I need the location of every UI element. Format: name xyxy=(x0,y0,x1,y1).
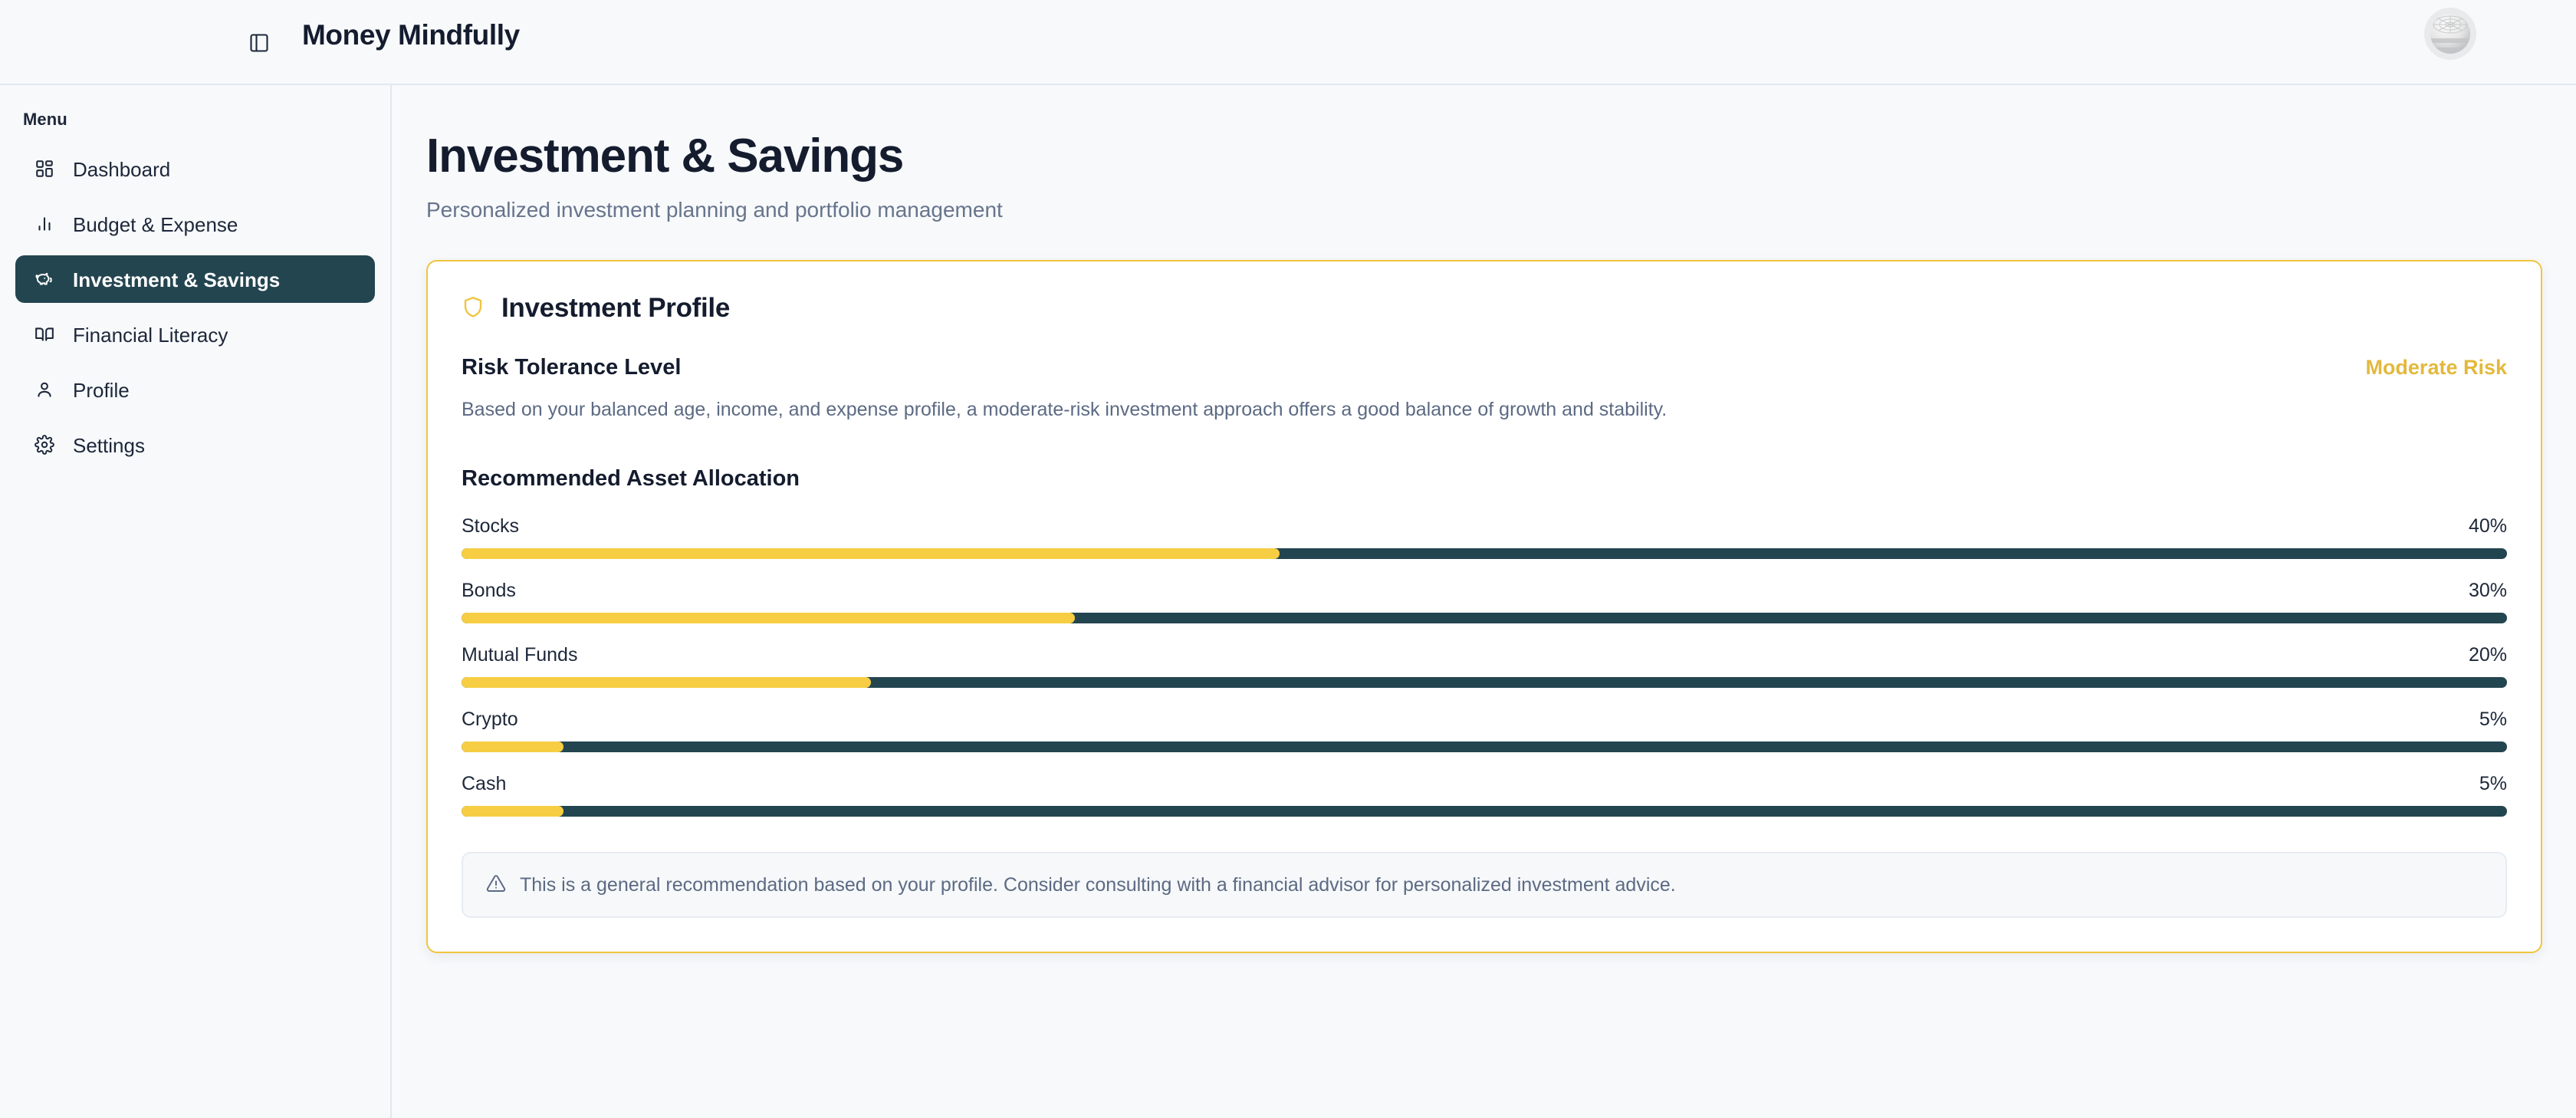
allocation-progress-track xyxy=(462,548,2507,559)
card-header: Investment Profile xyxy=(462,292,2507,324)
alert-triangle-icon xyxy=(486,873,506,897)
allocation-progress-track xyxy=(462,613,2507,623)
allocation-label: Mutual Funds xyxy=(462,643,577,666)
shield-icon xyxy=(462,295,485,322)
allocation-progress-track xyxy=(462,806,2507,817)
gear-icon xyxy=(34,435,54,455)
list-item: Bonds 30% xyxy=(462,579,2507,623)
sidebar: Menu Dashboard Budget & Exp xyxy=(0,85,392,1118)
list-item: Cash 5% xyxy=(462,772,2507,817)
top-bar: Money Mindfully xyxy=(0,0,2576,85)
list-item: Mutual Funds 20% xyxy=(462,643,2507,688)
allocation-progress-track xyxy=(462,741,2507,752)
risk-tolerance-row: Risk Tolerance Level Moderate Risk xyxy=(462,355,2507,380)
piggy-bank-icon xyxy=(34,269,54,289)
sidebar-item-profile[interactable]: Profile xyxy=(15,366,375,413)
disclaimer-box: This is a general recommendation based o… xyxy=(462,852,2507,919)
main-content: Investment & Savings Personalized invest… xyxy=(392,85,2576,1118)
user-icon xyxy=(34,380,54,400)
sidebar-item-label: Budget & Expense xyxy=(73,215,238,235)
allocation-progress-fill xyxy=(462,806,563,817)
allocation-value: 5% xyxy=(2479,772,2507,795)
allocation-label: Stocks xyxy=(462,515,519,538)
brand-title: Money Mindfully xyxy=(302,18,520,52)
risk-tolerance-label: Risk Tolerance Level xyxy=(462,355,681,380)
sidebar-item-financial-literacy[interactable]: Financial Literacy xyxy=(15,311,375,358)
allocation-value: 5% xyxy=(2479,708,2507,731)
allocation-list: Stocks 40% Bonds 30% Mutual Funds xyxy=(462,515,2507,817)
page-title: Investment & Savings xyxy=(418,130,2527,182)
disclaimer-text: This is a general recommendation based o… xyxy=(520,873,1676,898)
sidebar-item-label: Financial Literacy xyxy=(73,325,228,345)
allocation-value: 20% xyxy=(2469,643,2507,666)
page-subtitle: Personalized investment planning and por… xyxy=(418,197,2527,223)
allocation-label: Bonds xyxy=(462,579,516,602)
risk-tolerance-description: Based on your balanced age, income, and … xyxy=(462,397,2507,423)
allocation-progress-fill xyxy=(462,548,1280,559)
sidebar-item-label: Settings xyxy=(73,436,145,455)
allocation-title: Recommended Asset Allocation xyxy=(462,466,2507,492)
grid-icon xyxy=(34,159,54,179)
allocation-label: Crypto xyxy=(462,708,518,731)
book-open-icon xyxy=(34,324,54,344)
sidebar-item-budget-expense[interactable]: Budget & Expense xyxy=(15,200,375,248)
allocation-progress-fill xyxy=(462,741,563,752)
allocation-value: 40% xyxy=(2469,515,2507,538)
status-badge: Moderate Risk xyxy=(2365,356,2507,380)
allocation-progress-fill xyxy=(462,613,1075,623)
sidebar-nav: Dashboard Budget & Expense xyxy=(0,145,390,469)
card-title: Investment Profile xyxy=(501,292,730,324)
sidebar-toggle-icon[interactable] xyxy=(244,28,274,58)
allocation-value: 30% xyxy=(2469,579,2507,602)
sidebar-item-label: Profile xyxy=(73,380,130,400)
sidebar-item-settings[interactable]: Settings xyxy=(15,421,375,469)
sidebar-item-label: Dashboard xyxy=(73,159,170,179)
sidebar-section-label: Menu xyxy=(0,110,390,130)
list-item: Stocks 40% xyxy=(462,515,2507,559)
sidebar-item-label: Investment & Savings xyxy=(73,270,280,290)
bar-chart-icon xyxy=(34,214,54,234)
sidebar-item-investment-savings[interactable]: Investment & Savings xyxy=(15,255,375,303)
allocation-progress-fill xyxy=(462,677,871,688)
sidebar-item-dashboard[interactable]: Dashboard xyxy=(15,145,375,192)
list-item: Crypto 5% xyxy=(462,708,2507,752)
allocation-progress-track xyxy=(462,677,2507,688)
avatar[interactable] xyxy=(2424,8,2476,60)
allocation-label: Cash xyxy=(462,772,506,795)
investment-profile-card: Investment Profile Risk Tolerance Level … xyxy=(426,260,2542,953)
